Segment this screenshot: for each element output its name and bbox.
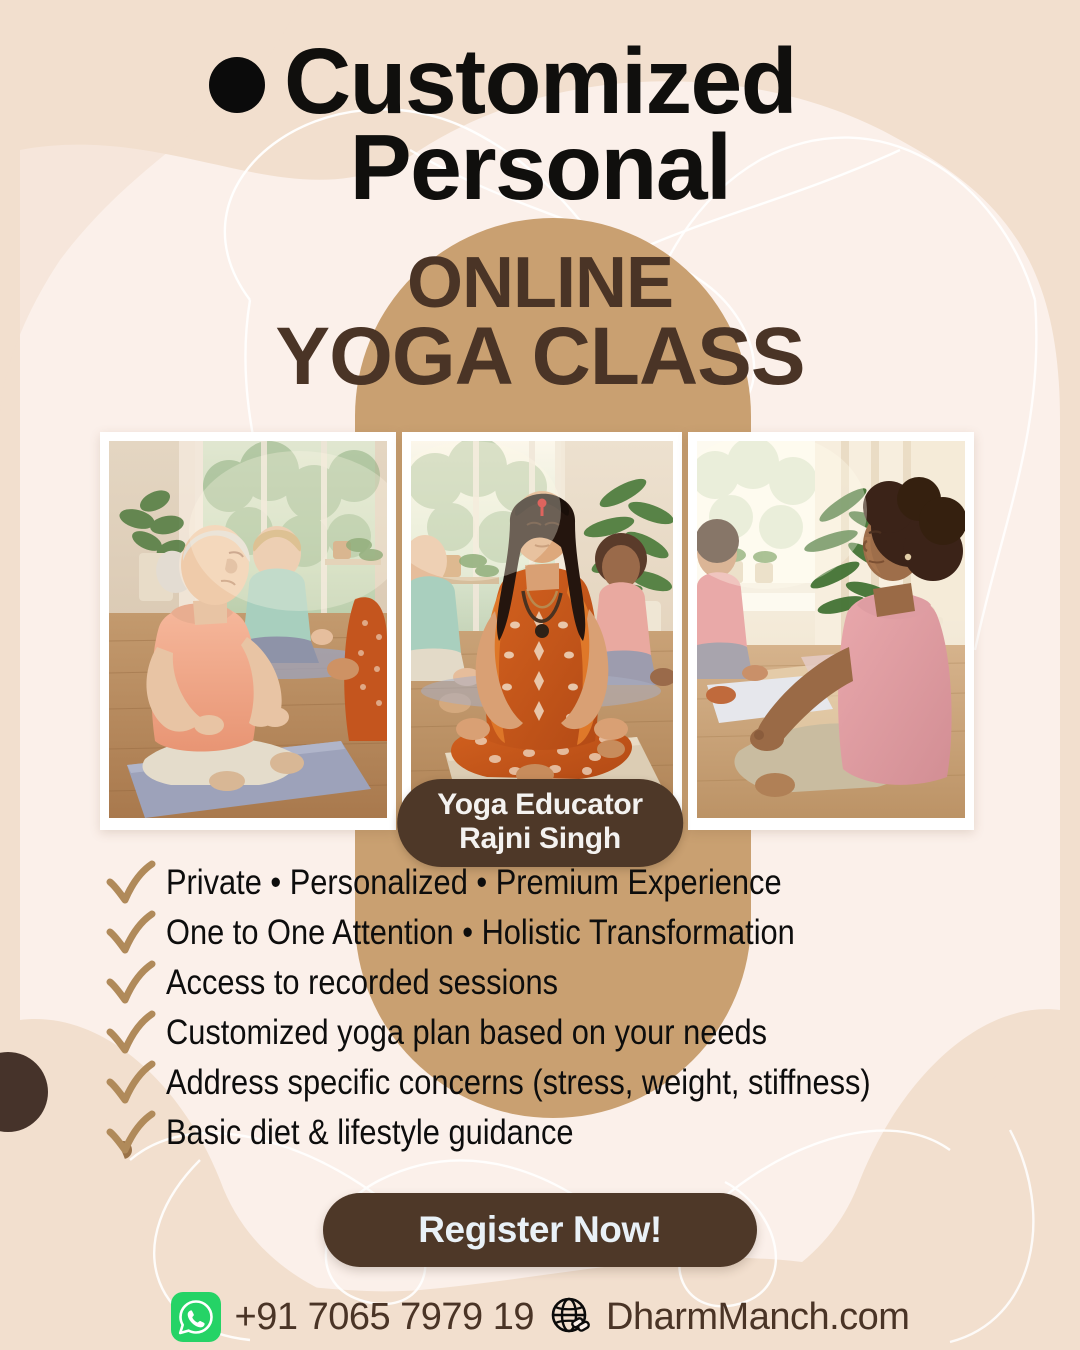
website-url[interactable]: DharmManch.com: [606, 1296, 909, 1339]
check-icon: [104, 1060, 166, 1106]
benefit-text: Private • Personalized • Premium Experie…: [166, 864, 782, 903]
photo-frame-2: [402, 432, 682, 830]
badge-line-1: Yoga Educator: [437, 788, 643, 822]
benefit-text: Customized yoga plan based on your needs: [166, 1014, 767, 1053]
benefit-item: Access to recorded sessions: [104, 958, 1034, 1008]
benefit-text: Access to recorded sessions: [166, 964, 558, 1003]
check-icon: [104, 1110, 166, 1156]
benefit-item: Customized yoga plan based on your needs: [104, 1008, 1034, 1058]
photo-older-woman-meditating: [109, 441, 387, 818]
check-icon: [104, 860, 166, 906]
photo-frame-3: [688, 432, 974, 830]
photo-3-art: [697, 441, 965, 818]
check-icon-glyph: [104, 1110, 158, 1156]
check-icon: [104, 960, 166, 1006]
educator-badge: Yoga Educator Rajni Singh: [397, 779, 683, 867]
benefit-text: Address specific concerns (stress, weigh…: [166, 1064, 871, 1103]
photo-gallery: [100, 432, 980, 830]
subtitle: ONLINE YOGA CLASS: [0, 250, 1080, 395]
check-icon-glyph: [104, 1060, 158, 1106]
subtitle-line-2: YOGA CLASS: [0, 318, 1080, 395]
check-icon-glyph: [104, 860, 158, 906]
page-title: Customized Personal: [0, 38, 1080, 211]
photo-1-art: [109, 441, 387, 818]
check-icon-glyph: [104, 910, 158, 956]
benefit-item: One to One Attention • Holistic Transfor…: [104, 908, 1034, 958]
check-icon: [104, 1010, 166, 1056]
benefit-text: Basic diet & lifestyle guidance: [166, 1114, 573, 1153]
register-now-button[interactable]: Register Now!: [323, 1193, 757, 1267]
badge-line-2: Rajni Singh: [437, 822, 643, 856]
footer-contact: +91 7065 7979 19 DharmManch.com: [0, 1292, 1080, 1342]
benefit-item: Basic diet & lifestyle guidance: [104, 1108, 1034, 1158]
poster-root: Customized Personal ONLINE YOGA CLASS: [0, 0, 1080, 1350]
benefit-item: Address specific concerns (stress, weigh…: [104, 1058, 1034, 1108]
globe-link-icon: [548, 1295, 592, 1339]
photo-frame-1: [100, 432, 396, 830]
benefits-list: Private • Personalized • Premium Experie…: [104, 858, 1034, 1158]
benefit-text: One to One Attention • Holistic Transfor…: [166, 914, 795, 953]
whatsapp-icon-glyph: [171, 1292, 221, 1342]
check-icon-glyph: [104, 960, 158, 1006]
globe-link-icon-glyph: [548, 1295, 592, 1339]
check-icon: [104, 910, 166, 956]
subtitle-line-1: ONLINE: [0, 250, 1080, 318]
check-icon-glyph: [104, 1010, 158, 1056]
headline-line-2: Personal: [0, 124, 1080, 210]
whatsapp-icon[interactable]: [171, 1292, 221, 1342]
photo-yoga-educator-meditating: [411, 441, 673, 818]
photo-woman-profile-meditating: [697, 441, 965, 818]
headline-line-1: Customized: [0, 38, 1080, 124]
phone-number[interactable]: +91 7065 7979 19: [235, 1296, 534, 1339]
photo-2-art: [411, 441, 673, 818]
